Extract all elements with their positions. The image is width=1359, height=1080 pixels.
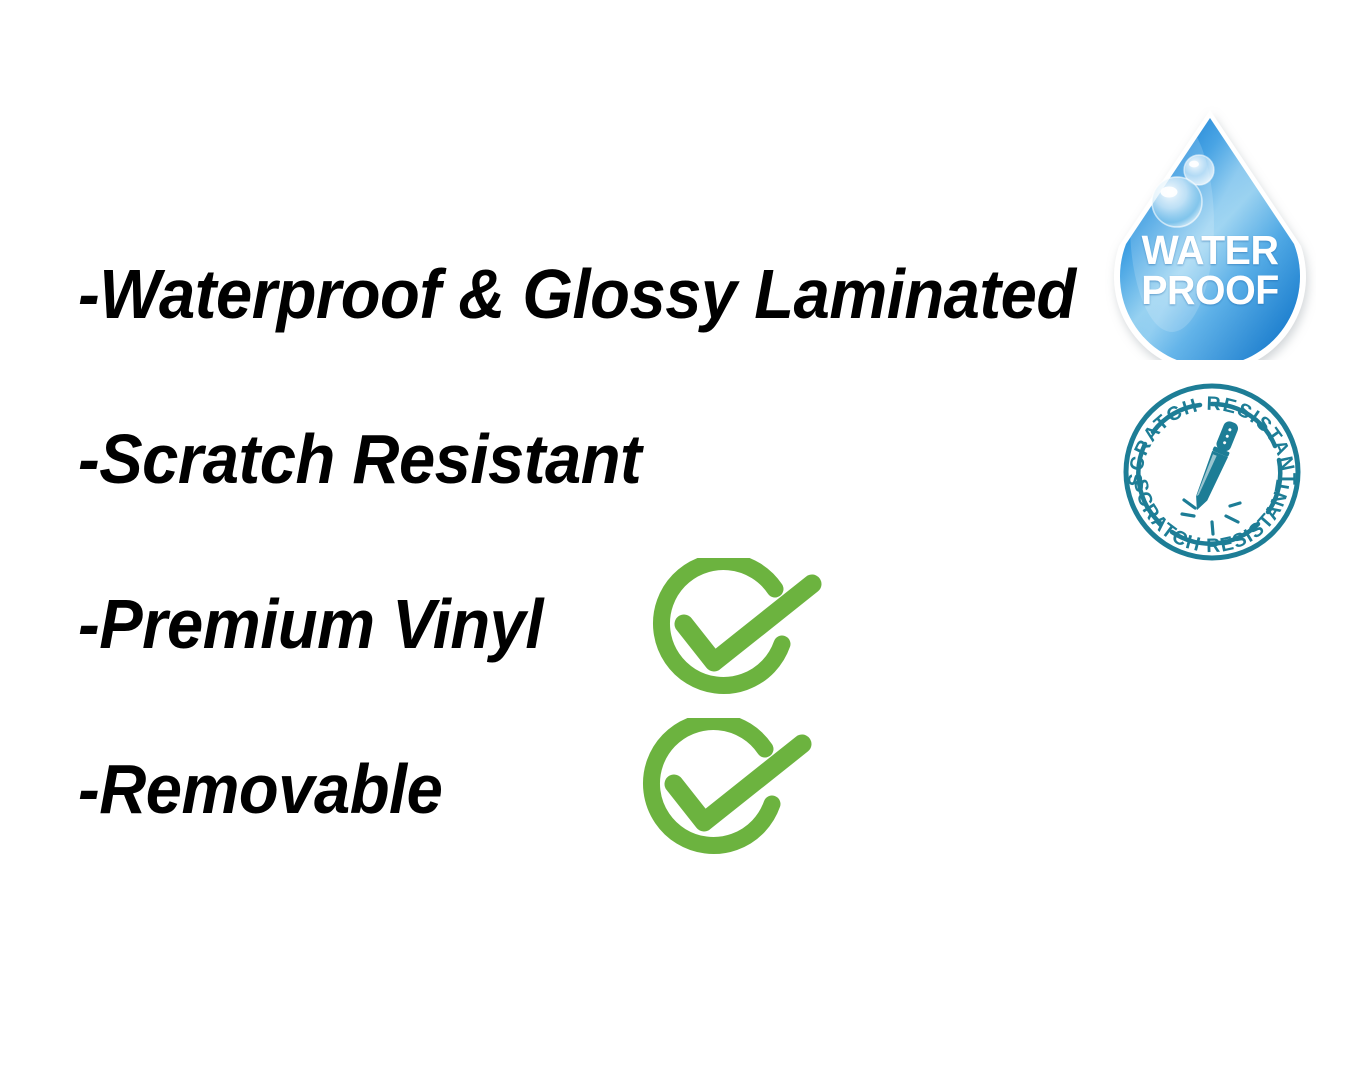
check-circle-icon-1 — [642, 558, 832, 708]
feature-item-removable: -Removable — [78, 753, 442, 825]
poster-canvas: -Waterproof & Glossy Laminated -Scratch … — [0, 0, 1359, 1080]
check-circle-icon-2 — [632, 718, 822, 868]
knife-icon — [1189, 419, 1240, 513]
feature-item-premium-vinyl: -Premium Vinyl — [78, 588, 543, 660]
feature-item-scratch-resistant: -Scratch Resistant — [78, 423, 641, 495]
waterproof-badge: WATER PROOF — [1104, 104, 1316, 360]
impact-spark-icon — [1182, 500, 1240, 534]
feature-item-waterproof-glossy-laminated: -Waterproof & Glossy Laminated — [78, 258, 1076, 330]
check-tick — [674, 744, 802, 822]
scratch-resistant-badge: SCRATCH RESISTANT SCRATCH RESISTANT — [1112, 382, 1312, 562]
check-tick — [684, 584, 812, 662]
droplet-bubble-large — [1152, 177, 1202, 227]
feature-list: -Waterproof & Glossy Laminated -Scratch … — [0, 0, 1100, 1080]
